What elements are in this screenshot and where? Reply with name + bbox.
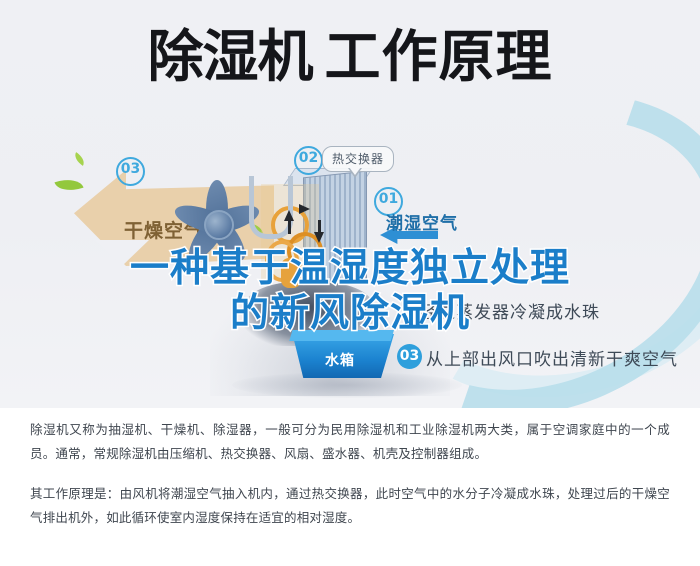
flow-arrow-down-icon xyxy=(314,232,324,243)
article-body: 除湿机又称为抽湿机、干燥机、除湿器，一般可分为民用除湿机和工业除湿机两大类，属于… xyxy=(0,408,700,566)
flow-arrow-right-icon xyxy=(299,204,310,214)
water-tank-lip-icon xyxy=(286,330,394,341)
article-paragraph-2: 其工作原理是：由风机将潮湿空气抽入机内，通过热交换器，此时空气中的水分子冷凝成水… xyxy=(30,482,670,530)
page-title: 除湿机工作原理 xyxy=(0,26,700,90)
u-pipe-icon xyxy=(249,176,293,239)
compressor-body-icon xyxy=(281,258,301,288)
note-condensation-text: 经过蒸发器冷凝成水珠 xyxy=(420,298,600,323)
flow-arrow-up-icon xyxy=(284,210,294,221)
dehumidifier-internals xyxy=(255,168,375,288)
leaf-icon xyxy=(72,152,87,166)
page-title-part2: 工作原理 xyxy=(325,25,553,90)
water-tank-label: 水箱 xyxy=(286,350,394,370)
callout-badge-03-outlet: 03 xyxy=(397,344,422,369)
page-title-part1: 除湿机 xyxy=(148,25,313,90)
water-tank: 水箱 xyxy=(286,330,394,378)
callout-badge-02-heat-exchanger: 02 xyxy=(294,146,323,175)
flow-arrow-stem xyxy=(288,220,291,234)
infographic-hero: 除湿机工作原理 干燥空气 xyxy=(0,0,700,408)
humid-air-label: 潮湿空气 xyxy=(386,209,458,234)
callout-bubble-tail-inner xyxy=(349,167,361,175)
page-root: 除湿机工作原理 干燥空气 xyxy=(0,0,700,566)
callout-badge-03-dry-air: 03 xyxy=(116,157,145,186)
leaf-icon xyxy=(54,174,83,195)
note-outlet-text: 从上部出风口吹出清新干爽空气 xyxy=(426,345,678,370)
fan-hub-icon xyxy=(204,210,234,240)
article-paragraph-1: 除湿机又称为抽湿机、干燥机、除湿器，一般可分为民用除湿机和工业除湿机两大类，属于… xyxy=(30,418,670,466)
